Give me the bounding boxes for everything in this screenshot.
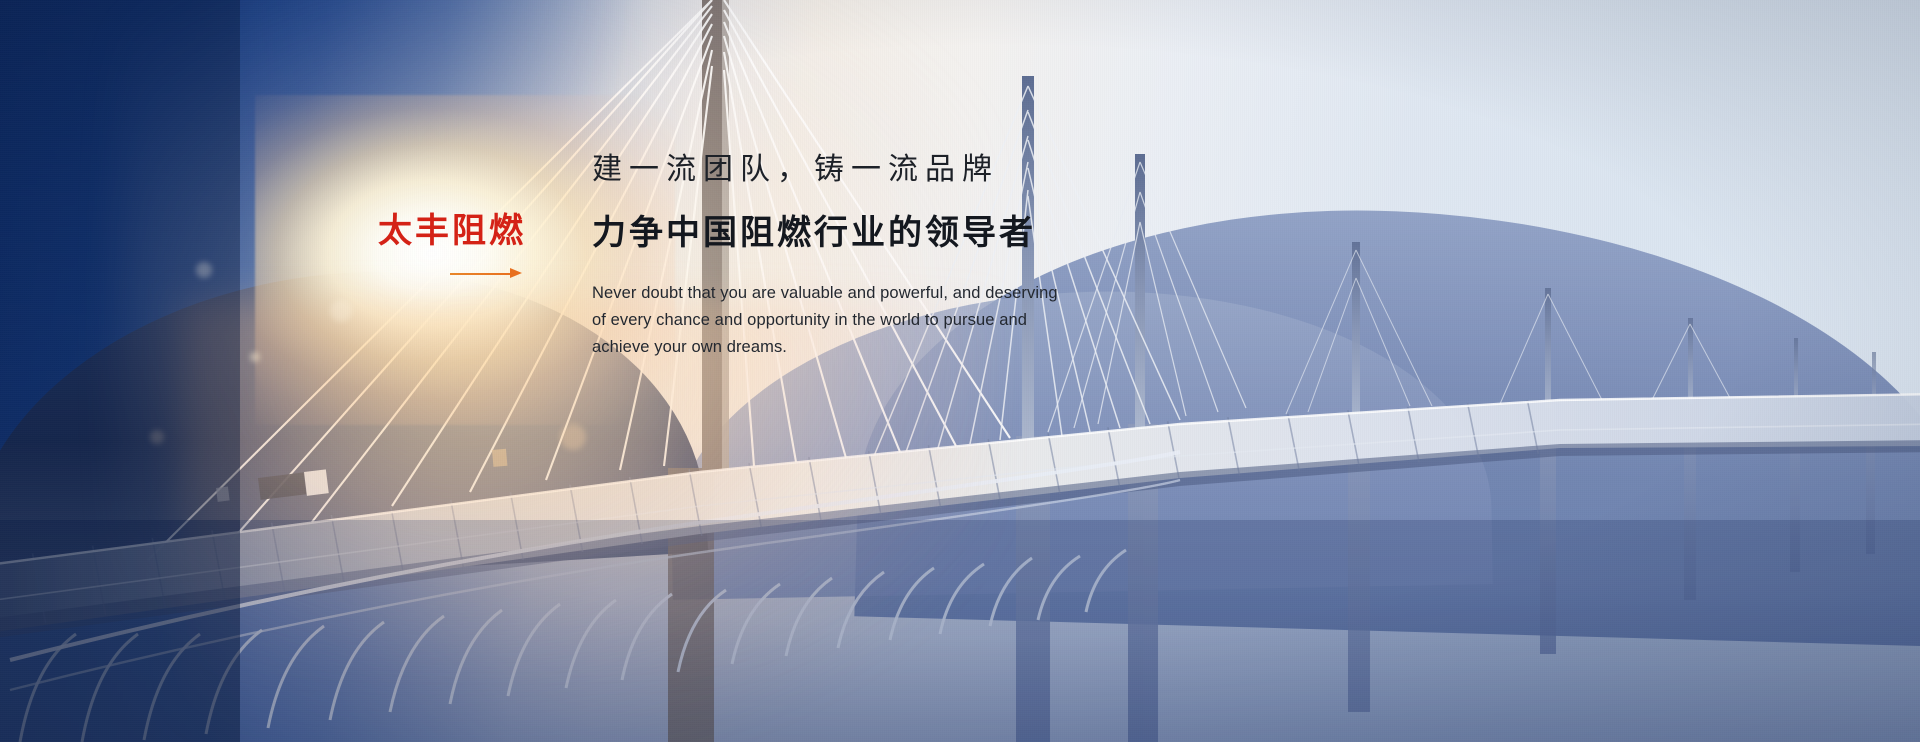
hero-banner: 太丰阻燃 建一流团队，铸一流品牌 力争中国阻燃行业的领导者 Never doub…: [0, 0, 1920, 742]
english-paragraph: Never doubt that you are valuable and po…: [592, 280, 1232, 360]
headline-slogan-line1: 建一流团队，铸一流品牌: [592, 150, 1232, 191]
headline-block: 建一流团队，铸一流品牌 力争中国阻燃行业的领导者 Never doubt tha…: [592, 150, 1232, 361]
arrow-shaft: [450, 273, 512, 275]
brand-logo[interactable]: 太丰阻燃: [378, 214, 538, 280]
english-paragraph-line1: Never doubt that you are valuable and po…: [592, 280, 1232, 307]
brand-logo-text: 太丰阻燃: [378, 214, 538, 248]
english-paragraph-line3: achieve your own dreams.: [592, 334, 1232, 361]
english-paragraph-line2: of every chance and opportunity in the w…: [592, 307, 1232, 334]
headline-slogan-line2: 力争中国阻燃行业的领导者: [592, 211, 1232, 257]
banner-content: 太丰阻燃 建一流团队，铸一流品牌 力争中国阻燃行业的领导者 Never doub…: [0, 0, 1920, 742]
arrow-head: [510, 268, 522, 278]
arrow-right-icon: [450, 268, 522, 280]
